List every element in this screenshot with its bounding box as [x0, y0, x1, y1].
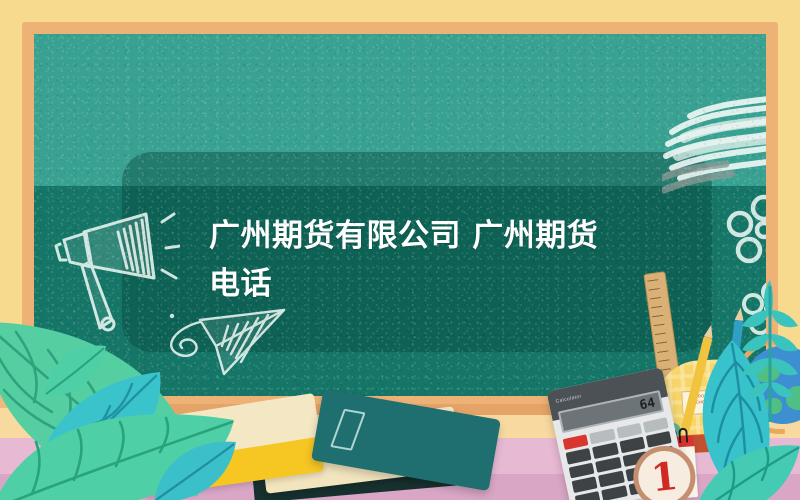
calculator-key-ac[interactable]: [563, 434, 589, 450]
calculator-key-divide[interactable]: [589, 429, 615, 445]
calculator-key[interactable]: [592, 443, 618, 459]
calculator-display: 64: [638, 395, 656, 413]
calculator-key[interactable]: [595, 457, 621, 473]
leaf-sprig-right: [730, 276, 800, 426]
leaf-small-board-edge: [40, 340, 110, 400]
calculator-key[interactable]: [569, 462, 595, 478]
magnifier-number: 1: [649, 457, 679, 498]
calculator-key[interactable]: [575, 491, 601, 500]
calculator-key[interactable]: [601, 485, 627, 500]
calculator-key-minus[interactable]: [643, 417, 669, 433]
calculator-key[interactable]: [566, 448, 592, 464]
calculator-key-multiply[interactable]: [616, 423, 642, 439]
page-title: 广州期货有限公司 广州期货电话: [209, 212, 629, 308]
chalk-smear: [662, 82, 766, 202]
headline-overlay-panel: [122, 152, 712, 352]
calculator-key[interactable]: [598, 471, 624, 487]
teal-book-label: [330, 409, 366, 451]
leaf-cluster-bottom-right: [686, 432, 800, 500]
leaf-teal-bottom-left: [150, 436, 240, 500]
poster-canvas: 广州期货有限公司 广州期货电话 FROM SCHOOL: [0, 0, 800, 500]
calculator-key[interactable]: [572, 476, 598, 492]
flower-large-icon: [726, 192, 766, 268]
